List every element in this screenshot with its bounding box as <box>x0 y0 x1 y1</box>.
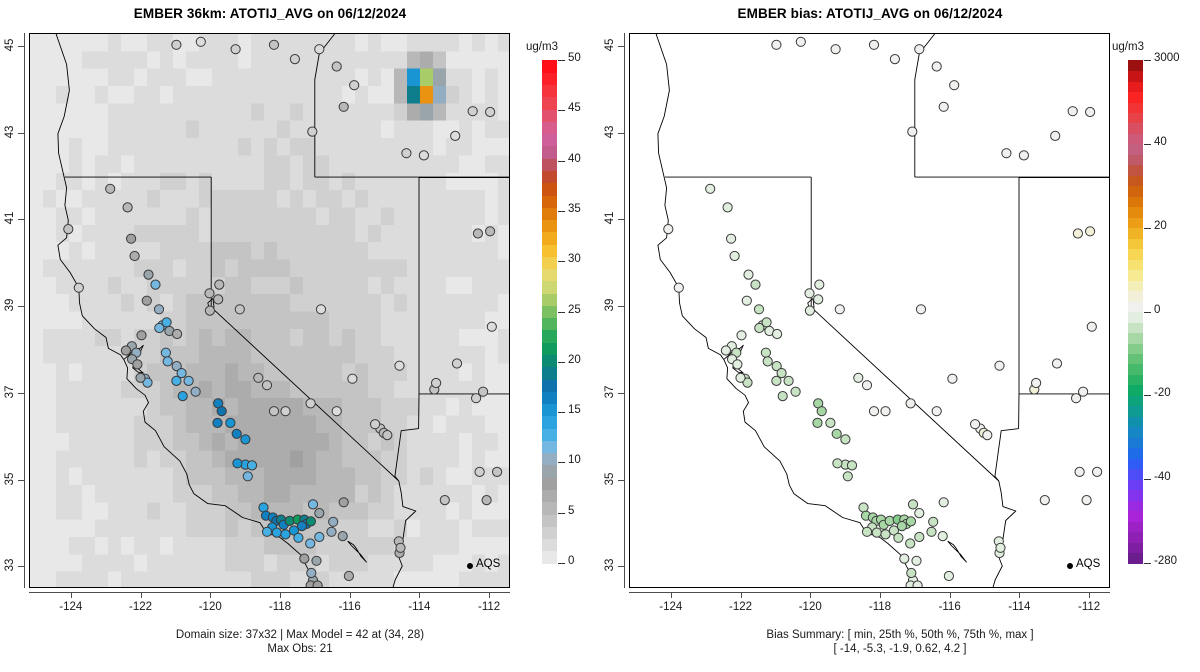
colorbar-tick-label: 10 <box>568 454 581 466</box>
colorbar-segment <box>542 85 557 98</box>
colorbar-tick-label: 45 <box>568 102 581 114</box>
colorbar-segment <box>542 305 557 318</box>
colorbar-tick-label: 0 <box>1154 304 1160 316</box>
y-tick-label: 33 <box>604 550 616 580</box>
colorbar-segment <box>1128 175 1143 186</box>
colorbar-tick <box>1144 228 1151 229</box>
colorbar-segment <box>1128 133 1143 144</box>
colorbar-segment <box>1128 364 1143 375</box>
y-tick <box>18 219 24 220</box>
colorbar-segment <box>1128 374 1143 385</box>
colorbar-segment <box>1128 112 1143 123</box>
colorbar-segment <box>1128 270 1143 281</box>
colorbar-unit: ug/m3 <box>1112 41 1144 53</box>
x-tick <box>810 592 811 598</box>
y-tick <box>18 566 24 567</box>
colorbar-tick <box>1144 312 1151 313</box>
colorbar-tick-label: 50 <box>568 52 581 64</box>
colorbar-segment <box>1128 60 1143 71</box>
colorbar-tick-label: 25 <box>568 304 581 316</box>
x-tick <box>141 592 142 598</box>
colorbar-segment <box>1128 542 1143 553</box>
colorbar-segment <box>542 170 557 183</box>
colorbar-segment <box>542 60 557 73</box>
colorbar-tick-label: 20 <box>568 354 581 366</box>
caption-model: Domain size: 37x32 | Max Model = 42 at (… <box>20 628 580 656</box>
x-tick <box>71 592 72 598</box>
colorbar-segment <box>1128 186 1143 197</box>
colorbar-segment <box>1128 217 1143 228</box>
colorbar-segment <box>542 256 557 269</box>
x-tick-label: -122 <box>719 601 763 613</box>
y-tick <box>18 46 24 47</box>
aqs-legend-dot <box>467 563 473 569</box>
x-axis-line <box>29 592 510 593</box>
x-tick-label: -118 <box>858 601 902 613</box>
y-tick <box>618 133 624 134</box>
x-tick <box>210 592 211 598</box>
panel-bias: EMBER bias: ATOTIJ_AVG on 06/12/2024 AQS… <box>600 0 1200 672</box>
y-tick-label: 43 <box>604 117 616 147</box>
y-tick-label: 45 <box>604 30 616 60</box>
y-tick <box>618 480 624 481</box>
colorbar-tick <box>558 362 565 363</box>
x-tick <box>1089 592 1090 598</box>
colorbar-segment <box>542 293 557 306</box>
map-frame-bias: AQS <box>629 33 1110 588</box>
y-tick-label: 39 <box>604 290 616 320</box>
y-tick <box>618 393 624 394</box>
colorbar-segment <box>542 183 557 196</box>
colorbar-segment <box>1128 165 1143 176</box>
x-tick <box>280 592 281 598</box>
map-frame-model: AQS <box>29 33 510 588</box>
colorbar-tick <box>558 161 565 162</box>
y-tick <box>18 480 24 481</box>
x-tick-label: -114 <box>397 601 441 613</box>
colorbar-segment <box>542 453 557 466</box>
colorbar-tick-label: 30 <box>568 253 581 265</box>
y-tick <box>618 219 624 220</box>
colorbar-unit: ug/m3 <box>526 41 558 53</box>
y-tick <box>618 306 624 307</box>
colorbar-tick <box>558 110 565 111</box>
x-tick-label: -112 <box>1067 601 1111 613</box>
colorbar-segment <box>542 404 557 417</box>
x-tick-label: -112 <box>467 601 511 613</box>
colorbar-tick <box>558 513 565 514</box>
colorbar-tick-label: 15 <box>568 404 581 416</box>
colorbar-tick-label: 5 <box>568 505 574 517</box>
colorbar-segment <box>1128 332 1143 343</box>
y-tick <box>618 566 624 567</box>
y-tick-label: 39 <box>4 290 16 320</box>
colorbar-segment <box>1128 301 1143 312</box>
y-tick-label: 45 <box>4 30 16 60</box>
colorbar-segment <box>542 428 557 441</box>
x-tick <box>419 592 420 598</box>
colorbar-segment <box>1128 500 1143 511</box>
caption-line-1: Bias Summary: [ min, 25th %, 50th %, 75t… <box>620 628 1180 642</box>
x-tick-label: -120 <box>188 601 232 613</box>
colorbar-segment <box>542 342 557 355</box>
colorbar-segment <box>542 526 557 539</box>
colorbar-segment <box>1128 123 1143 134</box>
colorbar-tick <box>558 462 565 463</box>
colorbar-segment <box>542 195 557 208</box>
colorbar-tick-label: 40 <box>1154 136 1167 148</box>
y-tick-label: 37 <box>4 377 16 407</box>
colorbar-tick-label: 0 <box>568 555 574 567</box>
colorbar-segment <box>542 330 557 343</box>
colorbar-segment <box>1128 353 1143 364</box>
colorbar-tick <box>558 563 565 564</box>
colorbar-segment <box>542 72 557 85</box>
colorbar-segment <box>542 538 557 551</box>
x-axis-line <box>629 592 1110 593</box>
y-tick-label: 35 <box>604 464 616 494</box>
colorbar-segment <box>1128 511 1143 522</box>
x-tick <box>880 592 881 598</box>
y-tick <box>18 306 24 307</box>
colorbar-segment <box>542 465 557 478</box>
colorbar-segment <box>1128 343 1143 354</box>
x-tick <box>741 592 742 598</box>
y-tick-label: 37 <box>604 377 616 407</box>
caption-line-2: [ -14, -5.3, -1.9, 0.62, 4.2 ] <box>620 642 1180 656</box>
y-tick-label: 43 <box>4 117 16 147</box>
colorbar-segment <box>542 97 557 110</box>
x-tick <box>950 592 951 598</box>
panel-model-title: EMBER 36km: ATOTIJ_AVG on 06/12/2024 <box>0 6 540 21</box>
y-axis-line <box>624 33 625 588</box>
colorbar-segment <box>1128 312 1143 323</box>
colorbar-segment <box>542 232 557 245</box>
aqs-legend-dot <box>1067 563 1073 569</box>
colorbar-tick-label: -40 <box>1154 471 1171 483</box>
caption-line-1: Domain size: 37x32 | Max Model = 42 at (… <box>20 628 580 642</box>
colorbar-tick <box>558 312 565 313</box>
colorbar-tick-label: 3000 <box>1154 52 1180 64</box>
colorbar-segment <box>1128 448 1143 459</box>
colorbar-segment <box>542 219 557 232</box>
y-tick-label: 41 <box>604 203 616 233</box>
colorbar-segment <box>1128 553 1143 564</box>
colorbar-segment <box>542 269 557 282</box>
colorbar-segment <box>542 281 557 294</box>
colorbar-segment <box>1128 532 1143 543</box>
colorbar-segment <box>1128 458 1143 469</box>
colorbar-segment <box>1128 291 1143 302</box>
y-tick <box>18 133 24 134</box>
colorbar-segment <box>1128 70 1143 81</box>
colorbar-segment <box>1128 154 1143 165</box>
colorbar-segment <box>1128 521 1143 532</box>
colorbar-segment <box>542 489 557 502</box>
y-axis-line <box>24 33 25 588</box>
colorbar-tick <box>1144 395 1151 396</box>
x-tick-label: -124 <box>49 601 93 613</box>
x-tick-label: -116 <box>328 601 372 613</box>
colorbar-segment <box>1128 437 1143 448</box>
colorbar-tick <box>1144 563 1151 564</box>
x-tick-label: -116 <box>928 601 972 613</box>
colorbar-segment <box>542 318 557 331</box>
colorbar-tick <box>1144 144 1151 145</box>
colorbar-segment <box>542 146 557 159</box>
colorbar-tick <box>558 60 565 61</box>
colorbar-segment <box>542 158 557 171</box>
colorbar-segment <box>542 477 557 490</box>
colorbar-gradient <box>542 60 557 563</box>
x-tick-label: -114 <box>997 601 1041 613</box>
caption-line-2: Max Obs: 21 <box>20 642 580 656</box>
x-tick-label: -124 <box>649 601 693 613</box>
colorbar-segment <box>542 109 557 122</box>
colorbar-segment <box>542 134 557 147</box>
y-tick-label: 33 <box>4 550 16 580</box>
colorbar-segment <box>542 379 557 392</box>
colorbar-segment <box>542 440 557 453</box>
aqs-legend-label: AQS <box>1076 558 1100 570</box>
colorbar-tick-label: 35 <box>568 203 581 215</box>
y-tick <box>618 46 624 47</box>
colorbar-segment <box>1128 144 1143 155</box>
colorbar-segment <box>1128 322 1143 333</box>
colorbar-segment <box>1128 91 1143 102</box>
colorbar-tick <box>1144 60 1151 61</box>
colorbar-segment <box>542 244 557 257</box>
colorbar-segment <box>1128 207 1143 218</box>
caption-bias: Bias Summary: [ min, 25th %, 50th %, 75t… <box>620 628 1180 656</box>
colorbar-segment <box>1128 280 1143 291</box>
colorbar-segment <box>542 551 557 564</box>
colorbar-segment <box>1128 102 1143 113</box>
colorbar-segment <box>542 367 557 380</box>
colorbar-segment <box>542 391 557 404</box>
y-tick-label: 35 <box>4 464 16 494</box>
colorbar-segment <box>1128 228 1143 239</box>
colorbar-tick-label: 20 <box>1154 220 1167 232</box>
colorbar-segment <box>1128 249 1143 260</box>
panel-model: EMBER 36km: ATOTIJ_AVG on 06/12/2024 AQS… <box>0 0 600 672</box>
colorbar-tick-label: -20 <box>1154 387 1171 399</box>
colorbar-tick <box>1144 479 1151 480</box>
colorbar-tick <box>558 211 565 212</box>
x-tick-label: -120 <box>788 601 832 613</box>
colorbar-segment <box>542 416 557 429</box>
colorbar-segment <box>1128 395 1143 406</box>
x-tick <box>671 592 672 598</box>
colorbar-segment <box>542 354 557 367</box>
x-tick <box>350 592 351 598</box>
colorbar-segment <box>1128 238 1143 249</box>
aqs-legend-label: AQS <box>476 558 500 570</box>
colorbar-tick-label: 40 <box>568 153 581 165</box>
colorbar-segment <box>1128 469 1143 480</box>
colorbar-segment <box>1128 416 1143 427</box>
y-tick <box>18 393 24 394</box>
panel-bias-title: EMBER bias: ATOTIJ_AVG on 06/12/2024 <box>600 6 1140 21</box>
x-tick <box>489 592 490 598</box>
x-tick-label: -118 <box>258 601 302 613</box>
colorbar-segment <box>1128 196 1143 207</box>
colorbar-segment <box>1128 406 1143 417</box>
colorbar-segment <box>1128 427 1143 438</box>
colorbar-segment <box>1128 81 1143 92</box>
colorbar-segment <box>542 207 557 220</box>
colorbar-segment <box>542 514 557 527</box>
x-tick-label: -122 <box>119 601 163 613</box>
colorbar-segment <box>1128 385 1143 396</box>
colorbar-segment <box>542 121 557 134</box>
colorbar-tick <box>558 261 565 262</box>
colorbar-segment <box>542 502 557 515</box>
colorbar-segment <box>1128 479 1143 490</box>
colorbar-tick-label: -280 <box>1154 555 1177 567</box>
y-tick-label: 41 <box>4 203 16 233</box>
colorbar-segment <box>1128 259 1143 270</box>
colorbar-segment <box>1128 490 1143 501</box>
x-tick <box>1019 592 1020 598</box>
colorbar-tick <box>558 412 565 413</box>
colorbar-gradient <box>1128 60 1143 563</box>
